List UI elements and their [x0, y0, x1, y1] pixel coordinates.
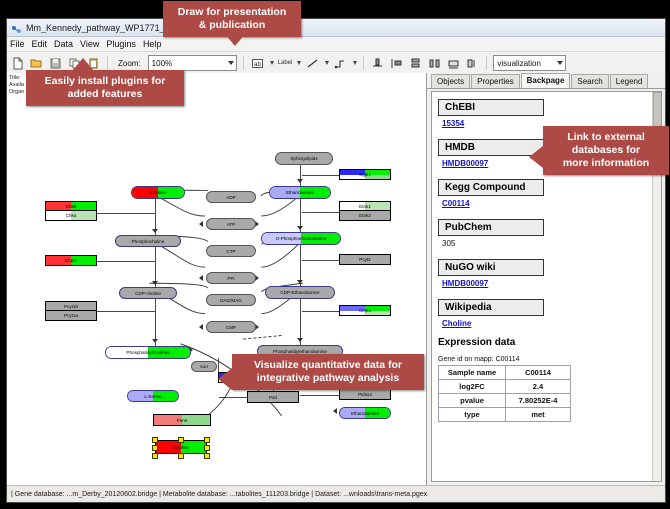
connector-line [302, 311, 340, 312]
node-label: ADP [226, 195, 235, 200]
pathway-node-phosphatidylcholines[interactable]: Phosphatidylcholines [105, 346, 191, 359]
line-icon[interactable] [305, 56, 320, 71]
toolbar-separator [486, 56, 487, 70]
chevron-down-icon [228, 61, 234, 65]
arrow-head [297, 338, 303, 342]
selection-handle[interactable] [178, 453, 184, 459]
selection-handle[interactable] [204, 445, 210, 451]
node-label: CDP-choline [135, 291, 161, 296]
meta-organism-label: Organ [9, 89, 24, 96]
node-label: Etnk1 [359, 204, 371, 209]
expr-value: 7.80252E-4 [506, 394, 571, 408]
arrow-head [152, 281, 158, 285]
table-row: pvalue 7.80252E-4 [439, 394, 571, 408]
node-label: Cept1 [359, 308, 371, 313]
arrow-head [152, 339, 158, 343]
arrow-head [152, 229, 158, 233]
svg-text:ab: ab [254, 62, 261, 68]
tab-legend[interactable]: Legend [610, 74, 649, 88]
callout-link-line2: databases for [551, 144, 661, 157]
connector-line [302, 175, 340, 176]
menu-data[interactable]: Data [54, 39, 73, 49]
node-label: Sgpl1 [359, 172, 371, 177]
tab-search[interactable]: Search [571, 74, 608, 88]
node-label: Psd [269, 395, 277, 400]
node-label: Ethanolamine [351, 411, 379, 416]
sidebar-tabstrip: Objects Properties Backpage Search Legen… [427, 73, 665, 89]
gene-box-etnk2[interactable]: Etnk2 [339, 211, 391, 221]
gene-box-chka[interactable]: Chka [45, 211, 97, 221]
connector-line [97, 213, 155, 214]
node-label: ATP [227, 222, 236, 227]
node-label: Phosphatidylethanolamine [273, 349, 327, 354]
db-header-pubchem: PubChem [438, 219, 544, 236]
menu-view[interactable]: View [80, 39, 99, 49]
arrow-head [199, 324, 203, 330]
visualization-value: visualization [497, 59, 541, 68]
callout-plugins-line2: added features [34, 88, 176, 101]
connector-line [300, 395, 340, 396]
table-row: log2FC 2.4 [439, 380, 571, 394]
selection-handle[interactable] [178, 437, 184, 443]
callout-link: Link to external databases for more info… [543, 126, 669, 175]
gene-box-chkb[interactable]: Chkb [45, 201, 97, 211]
db-value-pubchem: 305 [442, 239, 655, 248]
node-label: Phosphatidylcholines [126, 350, 169, 355]
callout-link-pointer-icon [529, 146, 543, 168]
window-titlebar: Mm_Kennedy_pathway_WP1771_45176.gpml [7, 19, 665, 37]
node-label: CMP [226, 325, 236, 330]
gene-box-pcyt2[interactable]: Pcyt2 [339, 254, 391, 265]
arrow-head [333, 408, 337, 414]
distribute-icon[interactable] [389, 56, 404, 71]
node-label: L-Serine [144, 394, 161, 399]
pathway-node-cmp[interactable]: CMP [206, 321, 256, 333]
callout-plugins-pointer-icon [72, 58, 94, 71]
chevron-down-icon[interactable] [353, 61, 357, 65]
expr-value: met [506, 408, 571, 422]
pathway-node-ppi[interactable]: PPi [206, 272, 256, 284]
stack-icon[interactable] [408, 56, 423, 71]
callout-draw-line1: Draw for presentation [171, 6, 293, 19]
screenshot-root: Mm_Kennedy_pathway_WP1771_45176.gpml Fil… [0, 0, 670, 509]
chevron-down-icon[interactable] [297, 61, 301, 65]
arrow-head [297, 179, 303, 183]
menu-plugins[interactable]: Plugins [106, 39, 136, 49]
gene-box-pemt-lower[interactable]: Pemt [153, 414, 211, 426]
gene-box-chpt1[interactable]: Chpt1 [45, 255, 97, 266]
pathway-node-o-phosphoethanolamine[interactable]: O-Phosphoethanolamine [261, 232, 341, 245]
pathway-node-atp[interactable]: ATP [206, 218, 256, 230]
order-icon[interactable] [465, 56, 480, 71]
node-label: CTP [226, 249, 235, 254]
db-header-chebi: ChEBI [438, 99, 544, 116]
zoom-value: 100% [152, 59, 172, 68]
chevron-down-icon[interactable] [325, 61, 329, 65]
pathway-node-ctp[interactable]: CTP [206, 245, 256, 257]
new-file-icon[interactable] [10, 56, 25, 71]
connector-line [97, 311, 155, 312]
selection-handle[interactable] [152, 445, 158, 451]
node-label: Etnk2 [359, 213, 371, 218]
arrow-head [199, 275, 203, 281]
db-link-wikipedia[interactable]: Choline [442, 319, 655, 328]
selection-handle[interactable] [204, 437, 210, 443]
node-label: SAH [200, 364, 208, 369]
connector-line [302, 260, 340, 261]
arrow-head [297, 280, 303, 284]
pathway-node-dag-mag[interactable]: DAG/MAG [206, 294, 256, 306]
node-label: O-Phosphoethanolamine [276, 236, 327, 241]
gene-box-cept1[interactable]: Cept1 [339, 305, 391, 316]
connector-line [97, 261, 155, 262]
expr-key: log2FC [439, 380, 506, 394]
table-row: Sample name C00114 [439, 366, 571, 380]
node-label: Pemt [177, 418, 188, 423]
chevron-down-icon[interactable] [270, 61, 274, 65]
callout-draw-line2: & publication [171, 19, 293, 32]
menu-edit[interactable]: Edit [32, 39, 48, 49]
node-label: Sphingolipids [290, 156, 317, 161]
db-header-kegg: Kegg Compound [438, 179, 544, 196]
menu-help[interactable]: Help [143, 39, 162, 49]
pathway-node-phosphocholine[interactable]: Phosphocholine [115, 235, 181, 247]
callout-visualize: Visualize quantitative data for integrat… [232, 354, 424, 390]
selection-handle[interactable] [204, 453, 210, 459]
db-header-wikipedia: Wikipedia [438, 299, 544, 316]
statusbar-text: | Gene database: ...m_Derby_20120602.bri… [11, 491, 427, 498]
align-icon[interactable] [370, 56, 385, 71]
node-label: Pcyt1a [64, 313, 78, 318]
visualization-combobox[interactable]: visualization [493, 55, 566, 71]
group-icon[interactable] [427, 56, 442, 71]
menubar: File Edit Data View Plugins Help [7, 37, 665, 52]
open-folder-icon[interactable] [29, 56, 44, 71]
connector-line [219, 397, 247, 398]
node-label: Ptdss2 [358, 392, 372, 397]
pathway-node-cdp-ethanolamine[interactable]: CDP-Ethanolamine [265, 286, 335, 299]
db-link-nugo[interactable]: HMDB00097 [442, 279, 655, 288]
arrow-head [297, 226, 303, 230]
expr-value: 2.4 [506, 380, 571, 394]
expr-key: pvalue [439, 394, 506, 408]
gene-box-psd[interactable]: Psd [247, 391, 299, 403]
callout-link-line3: more information [551, 157, 661, 170]
node-label: CDP-Ethanolamine [280, 290, 319, 295]
toolbar-separator [243, 56, 244, 70]
expr-key: type [439, 408, 506, 422]
node-label: DAG/MAG [220, 298, 242, 303]
selection-handle[interactable] [152, 453, 158, 459]
gene-id-line: Gene id on mapp: C00114 [438, 356, 655, 363]
gene-box-etnk1[interactable]: Etnk1 [339, 201, 391, 211]
callout-visualize-line2: integrative pathway analysis [240, 372, 416, 385]
meta-title-label: Title: [9, 75, 24, 82]
callout-visualize-pointer-icon [218, 368, 232, 390]
gene-box-pcyt1b[interactable]: Pcyt1b [45, 301, 97, 311]
toolbar-separator [107, 56, 108, 70]
toolbar-separator [363, 56, 364, 70]
connector-icon[interactable] [333, 56, 348, 71]
pathway-canvas[interactable]: Title: Availa Organ [7, 73, 427, 485]
pathway-node-choline[interactable]: Choline [131, 186, 185, 199]
save-icon[interactable] [48, 56, 63, 71]
node-label: Pcyt1b [64, 304, 78, 309]
statusbar: | Gene database: ...m_Derby_20120602.bri… [7, 485, 665, 502]
callout-plugins: Easily install plugins for added feature… [26, 70, 184, 106]
db-header-nugo: NuGO wiki [438, 259, 544, 276]
node-label: Pcyt2 [359, 257, 371, 262]
tab-backpage[interactable]: Backpage [521, 73, 571, 88]
tab-objects[interactable]: Objects [431, 74, 470, 88]
callout-draw-pointer-icon [224, 33, 246, 46]
expression-table: Sample name C00114 log2FC 2.4 pvalue 7.8… [438, 365, 571, 422]
zoom-combobox[interactable]: 100% [148, 55, 237, 71]
node-label: PPi [227, 276, 234, 281]
tab-properties[interactable]: Properties [471, 74, 519, 88]
connector-line [302, 212, 340, 213]
pathway-node-sphingolipids[interactable]: Sphingolipids [275, 152, 333, 165]
zoom-label: Zoom: [118, 59, 141, 68]
pathvisio-app-icon [11, 22, 22, 33]
pathway-node-l-serine-left[interactable]: L-Serine [127, 390, 179, 402]
callout-visualize-line1: Visualize quantitative data for [240, 359, 416, 372]
meta-available-label: Availa [9, 82, 24, 89]
gene-box-pcyt1a[interactable]: Pcyt1a [45, 311, 97, 321]
gene-box-ptdss2[interactable]: Ptdss2 [339, 389, 391, 400]
node-label: Choline [150, 190, 166, 195]
node-label: Ethanolamine [286, 190, 314, 195]
arrow-head [199, 221, 203, 227]
table-row: type met [439, 408, 571, 422]
node-label: Chkb [66, 204, 77, 209]
callout-link-line1: Link to external [551, 131, 661, 144]
pathway-node-cdp-choline[interactable]: CDP-choline [119, 287, 177, 299]
callout-draw: Draw for presentation & publication [163, 1, 301, 37]
menu-file[interactable]: File [10, 39, 25, 49]
node-label: Phosphocholine [132, 239, 165, 244]
expr-value: C00114 [506, 366, 571, 380]
pathway-node-ethanolamine[interactable]: Ethanolamine [269, 186, 331, 199]
pathway-node-sah[interactable]: SAH [191, 361, 217, 372]
expression-data-title: Expression data [438, 337, 655, 348]
label-tool-label[interactable]: Label [278, 60, 293, 66]
db-link-kegg[interactable]: C00114 [442, 199, 655, 208]
selection-handle[interactable] [152, 437, 158, 443]
chevron-down-icon [557, 61, 563, 65]
text-label-icon[interactable]: ab [250, 56, 265, 71]
gene-box-sgpl1[interactable]: Sgpl1 [339, 169, 391, 180]
pathway-node-ethanolamine-right[interactable]: Ethanolamine [339, 407, 391, 419]
expr-key: Sample name [439, 366, 506, 380]
node-label: Chka [66, 213, 77, 218]
callout-plugins-line1: Easily install plugins for [34, 75, 176, 88]
pathway-meta-labels: Title: Availa Organ [9, 75, 24, 96]
node-label: Choline [173, 445, 189, 450]
layout-icon[interactable] [446, 56, 461, 71]
node-label: Chpt1 [65, 258, 77, 263]
pathway-node-adp[interactable]: ADP [206, 191, 256, 203]
